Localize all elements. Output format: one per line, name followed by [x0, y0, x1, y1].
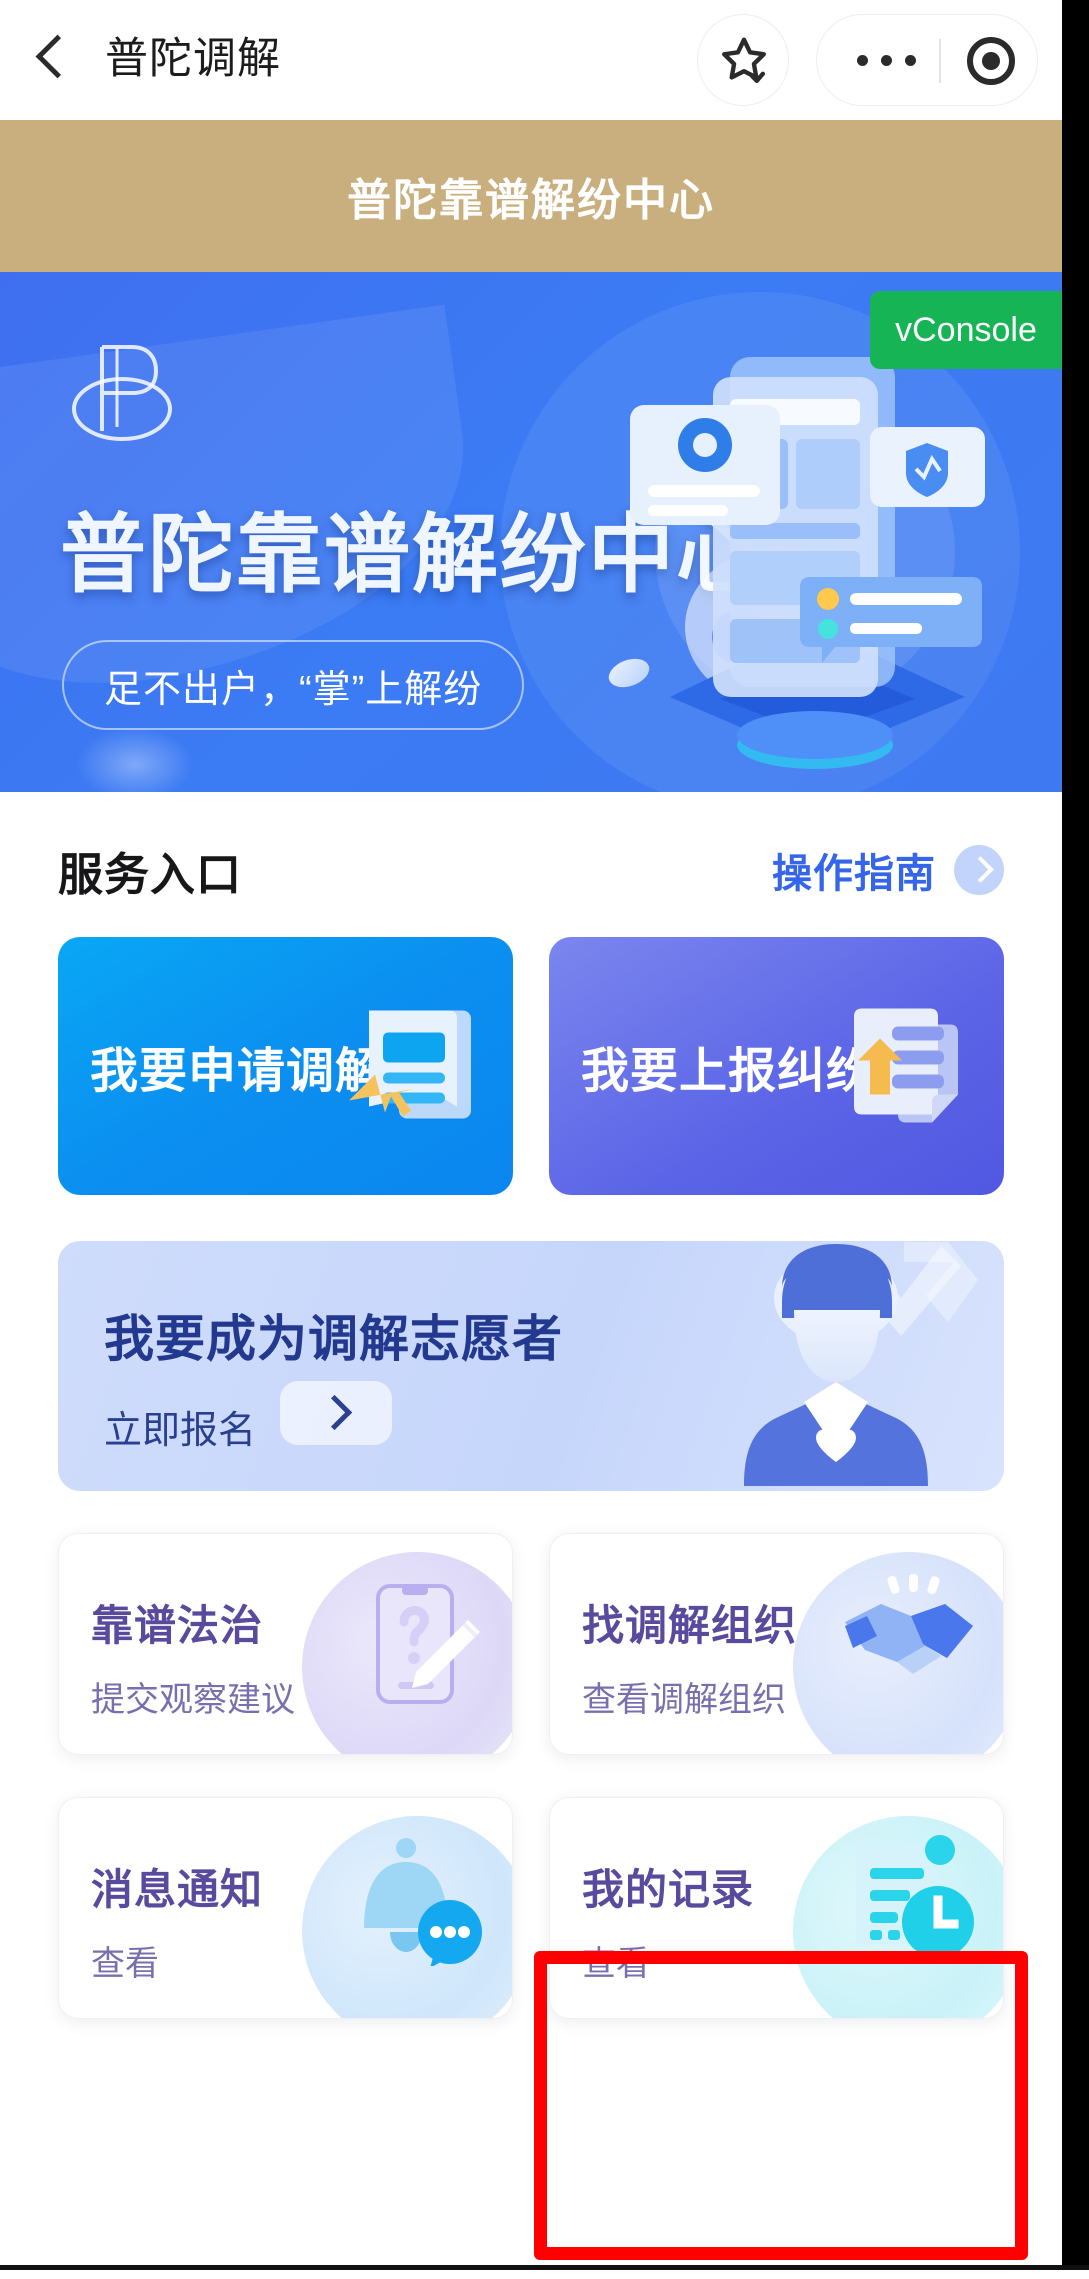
- volunteer-person-icon: [686, 1241, 986, 1491]
- tile-row-2: 消息通知 查看 我的记录: [58, 1797, 1004, 2019]
- tile-title: 靠谱法治: [91, 1592, 263, 1653]
- volunteer-title: 我要成为调解志愿者: [104, 1299, 563, 1371]
- operation-guide-label: 操作指南: [772, 841, 936, 899]
- service-section-header: 服务入口 操作指南: [58, 835, 1004, 905]
- gold-banner: 普陀靠谱解纷中心: [0, 120, 1062, 272]
- document-upload-icon: [832, 989, 982, 1144]
- tile-legal-governance[interactable]: 靠谱法治 提交观察建议: [58, 1533, 513, 1755]
- more-dots-icon[interactable]: [857, 55, 916, 66]
- bottom-edge-band: [0, 2265, 1089, 2279]
- volunteer-action-label: 立即报名: [104, 1399, 256, 1454]
- vconsole-button[interactable]: vConsole: [870, 291, 1062, 369]
- report-dispute-card[interactable]: 我要上报纠纷: [549, 937, 1004, 1195]
- tile-subtitle: 查看调解组织: [582, 1672, 786, 1721]
- tile-subtitle: 提交观察建议: [91, 1672, 295, 1721]
- bell-chat-icon: [346, 1836, 486, 1971]
- gold-banner-text: 普陀靠谱解纷中心: [347, 164, 715, 228]
- back-button[interactable]: [30, 28, 74, 88]
- tile-notifications[interactable]: 消息通知 查看: [58, 1797, 513, 2019]
- primary-card-row: 我要申请调解 我要上报纠纷: [58, 937, 1004, 1195]
- phone-documents-illustration: [580, 327, 1050, 792]
- tile-subtitle: 查看: [582, 1936, 650, 1985]
- volunteer-signup-button[interactable]: [280, 1381, 392, 1445]
- chevron-right-icon[interactable]: [954, 845, 1004, 895]
- tile-find-organization[interactable]: 找调解组织 查看调解组织: [549, 1533, 1004, 1755]
- hero-banner: 普陀靠谱解纷中心 足不出户，“掌”上解纷: [0, 272, 1062, 792]
- section-title: 服务入口: [58, 838, 242, 903]
- page-title: 普陀调解: [105, 24, 281, 86]
- document-cursor-icon: [341, 989, 491, 1144]
- right-black-band: [1062, 0, 1089, 2279]
- navigation-bar: 普陀调解: [0, 0, 1062, 120]
- apply-mediation-label: 我要申请调解: [90, 1031, 384, 1101]
- capsule-target-icon[interactable]: [967, 37, 1015, 85]
- volunteer-banner[interactable]: 我要成为调解志愿者 立即报名: [58, 1241, 1004, 1491]
- tile-my-records[interactable]: 我的记录 查看: [549, 1797, 1004, 2019]
- hero-light-spot: [75, 727, 195, 792]
- tile-title: 消息通知: [91, 1856, 263, 1917]
- hero-slogan-pill: 足不出户，“掌”上解纷: [62, 640, 524, 730]
- tile-title: 我的记录: [582, 1856, 754, 1917]
- mini-program-screen: 普陀调解 普陀靠谱解纷中心 普陀靠谱解纷中心: [0, 0, 1062, 2265]
- tile-subtitle: 查看: [91, 1936, 159, 1985]
- pudong-emblem-logo: [62, 327, 182, 457]
- tile-row-1: 靠谱法治 提交观察建议 找调解组织 查看调: [58, 1533, 1004, 1755]
- favorite-star-icon[interactable]: [697, 14, 789, 106]
- capsule-menu[interactable]: [816, 14, 1038, 106]
- capsule-divider: [939, 39, 941, 83]
- tile-title: 找调解组织: [582, 1592, 797, 1653]
- apply-mediation-card[interactable]: 我要申请调解: [58, 937, 513, 1195]
- phone-pencil-question-icon: [356, 1578, 486, 1713]
- handshake-icon: [837, 1574, 977, 1699]
- hero-slogan: 足不出户，“掌”上解纷: [104, 658, 482, 713]
- service-sheet: 服务入口 操作指南 我要申请调解: [0, 793, 1062, 2265]
- report-dispute-label: 我要上报纠纷: [581, 1031, 875, 1101]
- operation-guide-link[interactable]: 操作指南: [772, 841, 1004, 899]
- record-clock-icon: [842, 1832, 977, 1972]
